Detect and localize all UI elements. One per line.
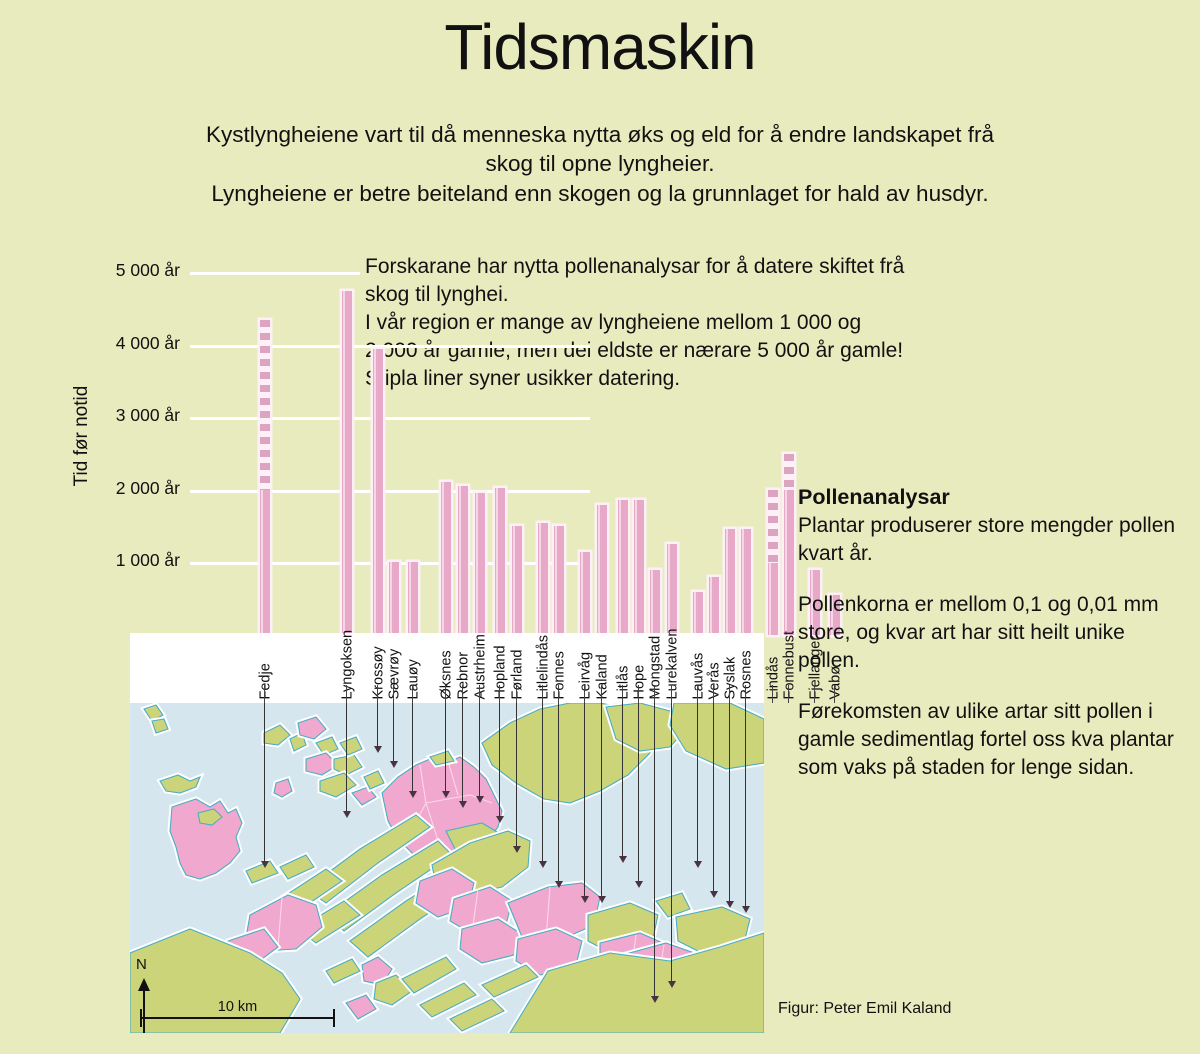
bar-litl-s [618, 500, 628, 635]
site-label-lind-s: Lindås [767, 656, 782, 699]
bar-f-rland [512, 526, 522, 635]
bar-solid-segment [618, 500, 628, 635]
site-label-litl-s: Litlås [617, 665, 632, 699]
bar-solid-segment [342, 291, 352, 635]
bar-highlight [785, 490, 787, 635]
sidebar-heading: Pollenanalysar [798, 483, 1190, 512]
bar-ver-s [709, 577, 719, 635]
bar-mongstad [650, 570, 660, 635]
site-label-lau-y: Lauøy [407, 659, 422, 699]
leader-arrowhead [476, 796, 484, 803]
bar-solid-segment [554, 526, 564, 635]
site-tick [671, 685, 672, 703]
bar-lauv-s [693, 592, 703, 636]
bar-highlight [598, 505, 600, 636]
sidebar-paragraph-1: Plantar produserer store mengder pollen … [798, 512, 1190, 569]
intro-line-2: skog til opne lyngheier. [100, 149, 1100, 178]
bar-solid-segment [373, 349, 383, 635]
site-tick [654, 685, 655, 703]
site-tick [264, 685, 265, 703]
leader-arrowhead [539, 861, 547, 868]
bar-highlight [635, 500, 637, 635]
site-tick [346, 685, 347, 703]
bar-solid-segment [408, 562, 418, 635]
bar-lurekalven [667, 544, 677, 635]
bar-dashed-segment [260, 320, 270, 490]
bar-highlight [694, 592, 696, 636]
leader-line-syslak [729, 703, 730, 902]
bar-highlight [726, 529, 728, 635]
site-tick [462, 685, 463, 703]
site-tick [697, 685, 698, 703]
bar-highlight [539, 523, 541, 635]
y-tick-3000: 3 000 år [80, 405, 180, 426]
site-label--ksnes: Øksnes [440, 650, 455, 699]
bar-solid-segment [538, 523, 548, 635]
bar-s-vr-y [389, 562, 399, 635]
site-label-s-vr-y: Sævrøy [388, 648, 403, 699]
bar-solid-segment [260, 490, 270, 635]
site-label-kross-y: Krossøy [372, 646, 387, 699]
site-tick [479, 685, 480, 703]
bar-highlight [668, 544, 670, 635]
bar-solid-segment [768, 563, 778, 636]
site-tick [516, 685, 517, 703]
site-tick [412, 685, 413, 703]
bar-hopland [495, 488, 505, 635]
leader-line-f-rland [516, 703, 517, 847]
y-tick-5000: 5 000 år [80, 260, 180, 281]
intro-line-1: Kystlyngheiene vart til då menneska nytt… [100, 120, 1100, 149]
leader-line-rebnor [462, 703, 463, 802]
figure-credit: Figur: Peter Emil Kaland [778, 1000, 951, 1018]
site-tick [445, 685, 446, 703]
leader-arrowhead [619, 856, 627, 863]
leader-arrowhead [694, 861, 702, 868]
leader-arrowhead [598, 896, 606, 903]
bar-solid-segment [667, 544, 677, 635]
bar-solid-segment [597, 505, 607, 636]
bar-solid-segment [634, 500, 644, 635]
intro-line-3: Lyngheiene er betre beiteland enn skogen… [100, 179, 1100, 208]
site-label-lyngoksen: Lyngoksen [341, 629, 356, 699]
leader-line-austrheim [479, 703, 480, 797]
leader-arrowhead [390, 761, 398, 768]
bar-kross-y [373, 349, 383, 635]
leader-arrowhead [261, 861, 269, 868]
leader-arrowhead [581, 896, 589, 903]
bar-solid-segment [458, 486, 468, 635]
bar-highlight [390, 562, 392, 635]
bar-highlight [513, 526, 515, 635]
leader-line-kross-y [377, 703, 378, 747]
pollenanalysar-sidebar: Pollenanalysar Plantar produserer store … [798, 483, 1190, 805]
leader-line-ver-s [713, 703, 714, 892]
bar-austrheim [475, 493, 485, 635]
leader-line-fedje [264, 703, 265, 862]
bar-syslak [725, 529, 735, 635]
bar-fonnes [554, 526, 564, 635]
leader-line-lauv-s [697, 703, 698, 862]
site-label-hopland: Hopland [494, 645, 509, 699]
site-tick [601, 685, 602, 703]
bar-solid-segment [441, 482, 451, 635]
site-tick [393, 685, 394, 703]
bar-highlight [409, 562, 411, 635]
bar-solid-segment [650, 570, 660, 635]
bar-highlight [555, 526, 557, 635]
north-label: N [136, 956, 147, 973]
bar-solid-segment [693, 592, 703, 636]
site-label-austrheim: Austrheim [474, 634, 489, 699]
leader-arrowhead [555, 881, 563, 888]
site-label-rebnor: Rebnor [457, 651, 472, 699]
bar-lyngoksen [342, 291, 352, 635]
map-coastal-heathland: .oliv{fill:#ccd47a;stroke:#4aaec4;stroke… [130, 703, 764, 1033]
bar-solid-segment [475, 493, 485, 635]
site-tick [622, 685, 623, 703]
bar-rebnor [458, 486, 468, 635]
leader-line-s-vr-y [393, 703, 394, 762]
site-tick [772, 685, 773, 703]
bar-highlight [742, 529, 744, 635]
pollen-dating-chart: Tid før notid 5 000 år4 000 år3 000 år2 … [0, 250, 780, 650]
scale-cap-right [333, 1009, 335, 1027]
bar-highlight [651, 570, 653, 635]
leader-line-litlelind-s [542, 703, 543, 862]
chart-bars [190, 250, 770, 635]
leader-arrowhead [651, 996, 659, 1003]
bar-solid-segment [741, 529, 751, 635]
site-tick [729, 685, 730, 703]
bar-highlight [442, 482, 444, 635]
leader-arrowhead [442, 791, 450, 798]
site-label-litlelind-s: Litlelindås [537, 635, 552, 700]
bar-hope [634, 500, 644, 635]
y-tick-2000: 2 000 år [80, 478, 180, 499]
leader-line-kaland [601, 703, 602, 897]
leader-line-litl-s [622, 703, 623, 857]
site-tick [558, 685, 559, 703]
site-label-fonnebust: Fonnebust [783, 630, 798, 699]
map-scale-bar: 10 km [140, 1005, 335, 1019]
bar-highlight [496, 488, 498, 635]
leader-arrowhead [374, 746, 382, 753]
y-axis-label: Tid før notid [71, 336, 93, 536]
scale-line [140, 1017, 335, 1019]
leader-line-mongstad [654, 703, 655, 997]
bar-highlight [581, 552, 583, 635]
site-label-strip: FedjeLyngoksenKrossøySævrøyLauøyØksnesRe… [130, 633, 764, 703]
site-label-hope: Hope [633, 664, 648, 699]
leader-line-fonnes [558, 703, 559, 882]
site-label-leirv-g: Leirvåg [579, 651, 594, 699]
site-label-fedje: Fedje [259, 663, 274, 699]
leader-arrowhead [742, 906, 750, 913]
site-tick [542, 685, 543, 703]
site-tick [499, 685, 500, 703]
bar-kaland [597, 505, 607, 636]
site-tick [788, 685, 789, 703]
bar-lau-y [408, 562, 418, 635]
bar-solid-segment [495, 488, 505, 635]
bar-dashed-segment [768, 490, 778, 563]
bar-solid-segment [389, 562, 399, 635]
bar-lind-s [768, 490, 778, 635]
leader-arrowhead [496, 816, 504, 823]
bar-rosnes [741, 529, 751, 635]
leader-arrowhead [409, 791, 417, 798]
leader-arrowhead [668, 981, 676, 988]
leader-arrowhead [343, 811, 351, 818]
bar-solid-segment [580, 552, 590, 635]
site-label-kaland: Kaland [596, 654, 611, 699]
bar-highlight [769, 563, 771, 636]
intro-text: Kystlyngheiene vart til då menneska nytt… [100, 120, 1100, 208]
bar-solid-segment [784, 490, 794, 635]
site-label-ver-s: Verås [708, 662, 723, 699]
site-tick [638, 685, 639, 703]
leader-line-rosnes [745, 703, 746, 907]
leader-line-lyngoksen [346, 703, 347, 812]
bar-highlight [261, 490, 263, 635]
site-tick [745, 685, 746, 703]
bar-litlelind-s [538, 523, 548, 635]
leader-arrowhead [459, 801, 467, 808]
leader-line-lurekalven [671, 703, 672, 982]
bar-highlight [476, 493, 478, 635]
bar-fedje [260, 320, 270, 635]
leader-line-lau-y [412, 703, 413, 792]
page-title: Tidsmaskin [0, 14, 1200, 81]
site-label-lauv-s: Lauvås [692, 652, 707, 699]
bar-solid-segment [725, 529, 735, 635]
site-label-fonnes: Fonnes [553, 651, 568, 699]
site-tick [713, 685, 714, 703]
scale-cap-left [140, 1009, 142, 1027]
bar-fonnebust [784, 454, 794, 635]
bar-solid-segment [709, 577, 719, 635]
site-label-lurekalven: Lurekalven [666, 628, 681, 699]
site-label-mongstad: Mongstad [649, 635, 664, 699]
bar-highlight [459, 486, 461, 635]
bar-dashed-segment [784, 454, 794, 490]
y-tick-4000: 4 000 år [80, 333, 180, 354]
sidebar-paragraph-3: Førekomsten av ulike artar sitt pollen i… [798, 698, 1190, 783]
leader-arrowhead [635, 881, 643, 888]
sidebar-paragraph-2: Pollenkorna er mellom 0,1 og 0,01 mm sto… [798, 591, 1190, 676]
bar--ksnes [441, 482, 451, 635]
bar-solid-segment [512, 526, 522, 635]
leader-line-leirv-g [584, 703, 585, 897]
leader-arrowhead [513, 846, 521, 853]
leader-line-hopland [499, 703, 500, 817]
bar-highlight [619, 500, 621, 635]
leader-arrowhead [726, 901, 734, 908]
site-tick [377, 685, 378, 703]
bar-highlight [710, 577, 712, 635]
bar-highlight [343, 291, 345, 635]
bar-leirv-g [580, 552, 590, 635]
map-scale-label: 10 km [140, 999, 335, 1015]
site-label-syslak: Syslak [724, 656, 739, 699]
site-label-rosnes: Rosnes [740, 650, 755, 699]
leader-arrowhead [710, 891, 718, 898]
y-tick-1000: 1 000 år [80, 550, 180, 571]
leader-line--ksnes [445, 703, 446, 792]
site-label-f-rland: Førland [511, 649, 526, 699]
bar-highlight [374, 349, 376, 635]
site-tick [584, 685, 585, 703]
leader-line-hope [638, 703, 639, 882]
